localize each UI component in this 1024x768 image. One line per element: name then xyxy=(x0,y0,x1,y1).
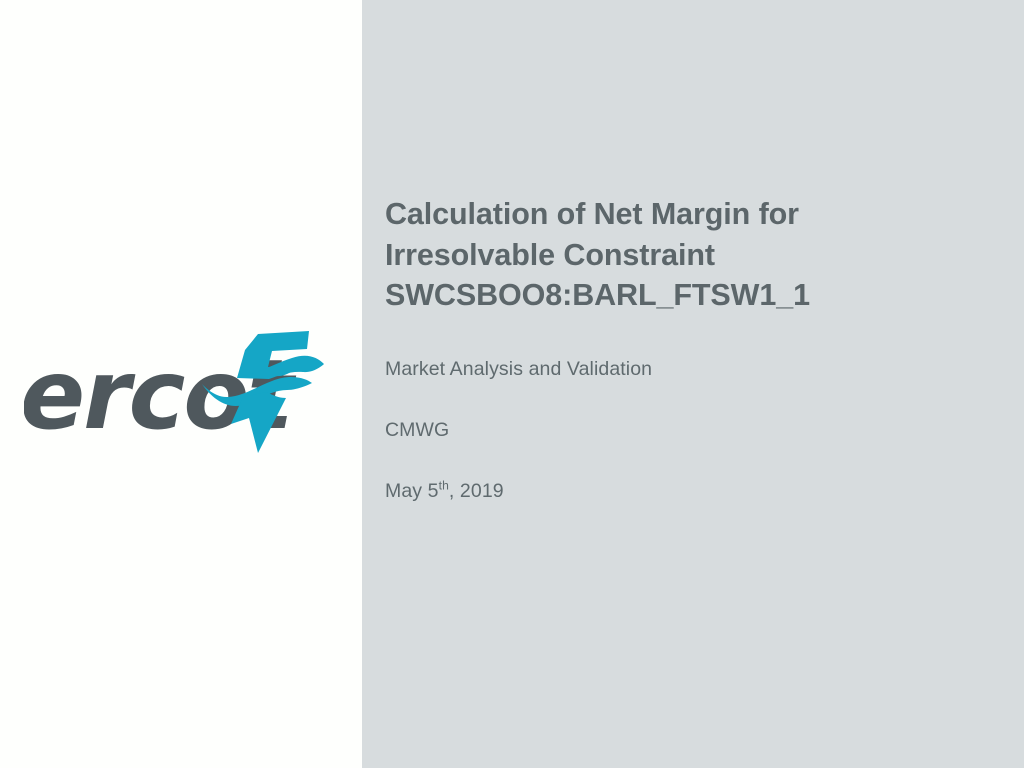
ercot-logo: ercot xyxy=(24,326,324,460)
date-month-day: May 5 xyxy=(385,480,439,502)
subtitle-department: Market Analysis and Validation xyxy=(385,357,975,381)
subtitle-group-name: CMWG xyxy=(385,418,975,442)
ercot-logo-svg: ercot xyxy=(24,326,324,460)
date-ordinal-suffix: th xyxy=(439,478,449,492)
slide-content: Calculation of Net Margin for Irresolvab… xyxy=(385,194,975,503)
page-title: Calculation of Net Margin for Irresolvab… xyxy=(385,194,975,316)
date-year: , 2019 xyxy=(449,480,504,502)
subtitle-date: May 5th, 2019 xyxy=(385,479,975,503)
title-slide: ercot Calculation of Net Margin for Irre… xyxy=(0,0,1024,768)
subtitle-group: Market Analysis and Validation CMWG May … xyxy=(385,357,975,503)
